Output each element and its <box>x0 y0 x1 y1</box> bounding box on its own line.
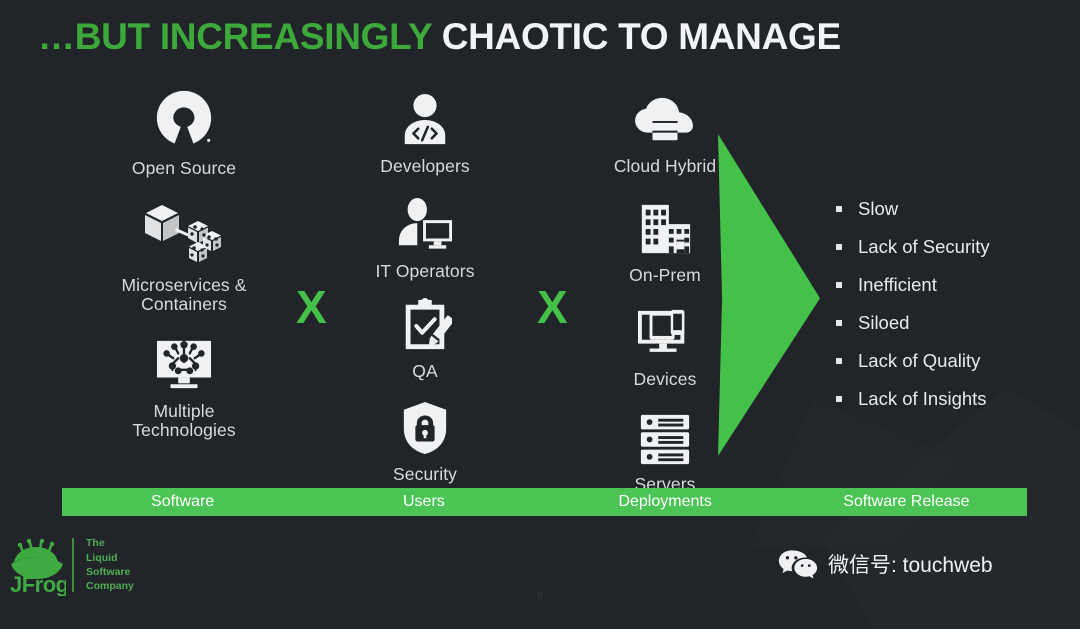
bullet-square-icon <box>836 320 842 326</box>
item-label: On-Prem <box>629 266 701 286</box>
jfrog-frog-mark-icon: JFrog <box>8 534 66 596</box>
list-item-label: Inefficient <box>858 274 937 296</box>
item-label: Microservices & Containers <box>122 276 247 315</box>
bullet-square-icon <box>836 206 842 212</box>
item-microservices-containers: Microservices & Containers <box>84 201 284 315</box>
category-bar: Software Users Deployments Software Rele… <box>62 488 1027 516</box>
server-rack-icon <box>637 412 693 466</box>
list-item: Slow <box>836 190 990 228</box>
list-item: Siloed <box>836 304 990 342</box>
item-security: Security <box>325 400 525 485</box>
item-developers: Developers <box>325 92 525 177</box>
column-users: Developers IT Operators <box>325 86 525 484</box>
icon-columns: Open Source <box>0 86 840 486</box>
cloud-server-icon <box>630 94 700 148</box>
category-bar-segment-software: Software <box>62 493 303 511</box>
category-bar-segment-users: Users <box>303 493 544 511</box>
list-item: Lack of Quality <box>836 342 990 380</box>
multiply-operator-2: X <box>537 284 568 330</box>
item-label: Cloud Hybrid <box>614 157 716 177</box>
outcomes-list: Slow Lack of Security Inefficient Siloed… <box>836 190 990 418</box>
list-item: Lack of Insights <box>836 380 990 418</box>
item-label: QA <box>412 362 438 382</box>
list-item-label: Siloed <box>858 312 909 334</box>
slide-title-green-part: …BUT INCREASINGLY <box>38 16 432 57</box>
wechat-handle-text: 微信号: touchweb <box>828 549 993 579</box>
monitor-circuit-icon <box>153 337 215 393</box>
shield-lock-icon <box>400 400 450 456</box>
wechat-watermark: 微信号: touchweb <box>778 548 993 580</box>
item-label: Devices <box>634 370 697 390</box>
clipboard-check-pencil-icon <box>398 297 452 353</box>
item-label: IT Operators <box>375 262 474 282</box>
item-label: Open Source <box>132 159 236 179</box>
list-item-label: Lack of Insights <box>858 388 987 410</box>
item-open-source: Open Source <box>84 88 284 179</box>
list-item: Lack of Security <box>836 228 990 266</box>
column-software: Open Source <box>84 86 284 441</box>
cube-and-containers-icon <box>140 201 228 267</box>
item-multiple-technologies: Multiple Technologies <box>84 337 284 441</box>
category-bar-segment-software-release: Software Release <box>786 493 1027 511</box>
item-label: Multiple Technologies <box>132 402 235 441</box>
person-code-icon <box>398 92 452 148</box>
bullet-square-icon <box>836 244 842 250</box>
list-item-label: Slow <box>858 198 898 220</box>
bullet-square-icon <box>836 282 842 288</box>
item-qa: QA <box>325 297 525 382</box>
item-it-operators: IT Operators <box>325 197 525 282</box>
list-item-label: Lack of Security <box>858 236 990 258</box>
item-label: Developers <box>380 157 470 177</box>
buildings-icon <box>636 201 694 257</box>
jfrog-logo: JFrog The Liquid Software Company <box>8 534 134 596</box>
multiply-operator-1: X <box>296 284 327 330</box>
slide-title-white-part: CHAOTIC TO MANAGE <box>442 16 841 57</box>
list-item-label: Lack of Quality <box>858 350 980 372</box>
slide-number: 9 <box>0 590 1080 602</box>
logo-divider <box>72 538 74 592</box>
person-monitor-icon <box>394 197 456 253</box>
wechat-icon <box>778 548 818 580</box>
logo-tagline: The Liquid Software Company <box>86 536 134 594</box>
slide-title: …BUT INCREASINGLY CHAOTIC TO MANAGE <box>38 18 841 55</box>
category-bar-segment-deployments: Deployments <box>545 493 786 511</box>
item-label: Security <box>393 465 457 485</box>
monitor-tablet-phone-icon <box>634 307 696 361</box>
list-item: Inefficient <box>836 266 990 304</box>
bullet-square-icon <box>836 396 842 402</box>
open-source-logo-icon <box>153 88 215 150</box>
bullet-square-icon <box>836 358 842 364</box>
